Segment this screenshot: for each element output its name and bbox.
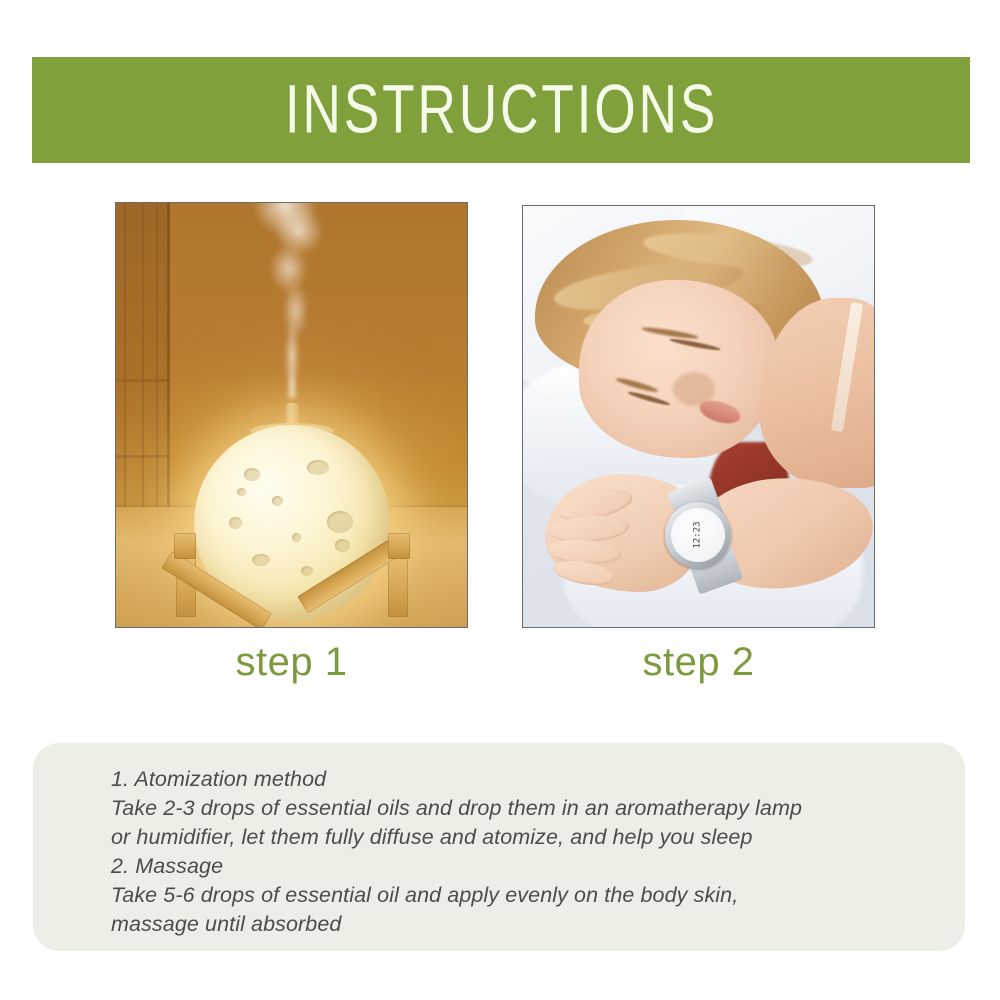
crater bbox=[327, 511, 353, 533]
wall-slat bbox=[116, 379, 170, 382]
instruction-line: Take 2-3 drops of essential oils and dro… bbox=[111, 794, 931, 823]
instruction-line: 2. Massage bbox=[111, 852, 931, 881]
crater bbox=[307, 460, 329, 475]
page-title: INSTRUCTIONS bbox=[284, 76, 717, 144]
stand-post-right bbox=[388, 533, 410, 559]
moon-lamp-photo bbox=[116, 203, 467, 627]
sleeping-woman-photo: 12:23 bbox=[523, 206, 874, 627]
step-1-image bbox=[115, 202, 468, 628]
crater bbox=[301, 566, 313, 576]
step-1-caption: step 1 bbox=[115, 640, 468, 685]
watch-face: 12:23 bbox=[671, 508, 725, 562]
stand-post-left bbox=[174, 533, 196, 559]
crater bbox=[237, 488, 246, 496]
crater bbox=[252, 554, 270, 566]
wall-panel bbox=[116, 203, 170, 533]
mist-plume bbox=[249, 202, 335, 399]
crater bbox=[335, 539, 350, 552]
instruction-line: 1. Atomization method bbox=[111, 765, 931, 794]
crater bbox=[229, 517, 242, 529]
instruction-line: massage until absorbed bbox=[111, 910, 931, 939]
crater bbox=[244, 468, 260, 481]
wall-slat bbox=[116, 455, 170, 458]
step-images-row: 12:23 bbox=[0, 202, 1000, 632]
step-2-caption: step 2 bbox=[522, 640, 875, 685]
watch-time-display: 12:23 bbox=[693, 521, 703, 548]
wall-slat bbox=[156, 203, 158, 533]
wall-slat bbox=[124, 203, 126, 533]
face bbox=[579, 280, 779, 458]
instruction-line: Take 5-6 drops of essential oil and appl… bbox=[111, 881, 931, 910]
crater bbox=[272, 496, 283, 506]
instructions-header-banner: INSTRUCTIONS bbox=[32, 57, 970, 163]
wall-slat bbox=[142, 203, 144, 533]
smartwatch: 12:23 bbox=[665, 502, 731, 568]
instruction-line: or humidifier, let them fully diffuse an… bbox=[111, 823, 931, 852]
usage-instructions-panel: 1. Atomization method Take 2-3 drops of … bbox=[33, 743, 965, 951]
crater bbox=[292, 533, 301, 542]
stand-leg-right bbox=[388, 555, 408, 617]
step-2-image: 12:23 bbox=[522, 205, 875, 628]
